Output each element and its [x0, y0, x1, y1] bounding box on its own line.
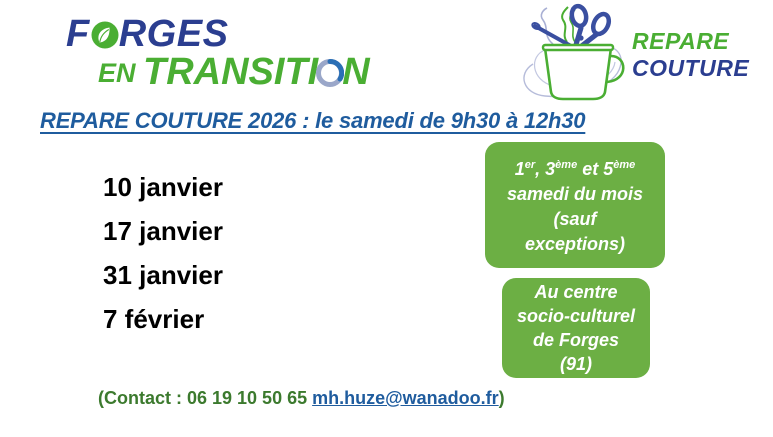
forges-text-before: F — [66, 13, 90, 55]
contact-email-link[interactable]: mh.huze@wanadoo.fr — [312, 388, 499, 408]
location-line-4: (91) — [560, 352, 592, 376]
forges-en-text: EN — [98, 58, 143, 88]
page-title: REPARE COUTURE 2026 : le samedi de 9h30 … — [40, 108, 585, 134]
location-line-1: Au centre — [534, 280, 617, 304]
schedule-sup-3: ème — [613, 159, 635, 171]
list-item: 31 janvier — [103, 253, 383, 297]
schedule-ordinal-1: 1 — [515, 159, 525, 179]
schedule-ordinal-2: , 3 — [535, 159, 555, 179]
location-callout-box: Au centre socio-culturel de Forges (91) — [502, 278, 650, 378]
schedule-line-1: 1er, 3ème et 5ème — [515, 153, 636, 182]
forges-en-transition-logo: FRGES EN TRANSITIN — [60, 14, 360, 94]
repare-word: REPARE — [632, 28, 749, 55]
schedule-sup-1: er — [525, 159, 535, 171]
list-item: 7 février — [103, 297, 383, 341]
schedule-line-2: samedi du mois — [507, 182, 643, 207]
contact-line: (Contact : 06 19 10 50 65 mh.huze@wanado… — [98, 388, 505, 409]
location-line-3: de Forges — [533, 328, 619, 352]
contact-prefix: (Contact : 06 19 10 50 65 — [98, 388, 312, 408]
repare-couture-logo: REPARE COUTURE — [510, 2, 772, 102]
green-leaf-circle-icon — [90, 20, 120, 50]
forges-wordmark-line1: FRGES — [66, 14, 228, 54]
forges-text-after: RGES — [119, 13, 229, 55]
schedule-line-3: (sauf — [553, 207, 596, 232]
location-line-2: socio-culturel — [517, 304, 635, 328]
schedule-ordinal-3: et 5 — [577, 159, 613, 179]
dates-list: 10 janvier 17 janvier 31 janvier 7 févri… — [103, 165, 383, 341]
forges-wordmark-line2: EN TRANSITIN — [98, 52, 370, 93]
schedule-sup-2: ème — [555, 159, 577, 171]
couture-word: COUTURE — [632, 55, 749, 82]
contact-suffix: ) — [499, 388, 505, 408]
repare-couture-wordmark: REPARE COUTURE — [632, 28, 749, 82]
green-cup-with-scissors-and-needle-icon — [515, 2, 645, 102]
recycle-circle-icon — [316, 59, 344, 87]
transition-text-after: N — [342, 51, 369, 93]
list-item: 10 janvier — [103, 165, 383, 209]
list-item: 17 janvier — [103, 209, 383, 253]
transition-text-before: TRANSITI — [143, 51, 318, 93]
poster-canvas: FRGES EN TRANSITIN — [0, 0, 773, 437]
schedule-callout-box: 1er, 3ème et 5ème samedi du mois (sauf e… — [485, 142, 665, 268]
schedule-line-4: exceptions) — [525, 232, 625, 257]
